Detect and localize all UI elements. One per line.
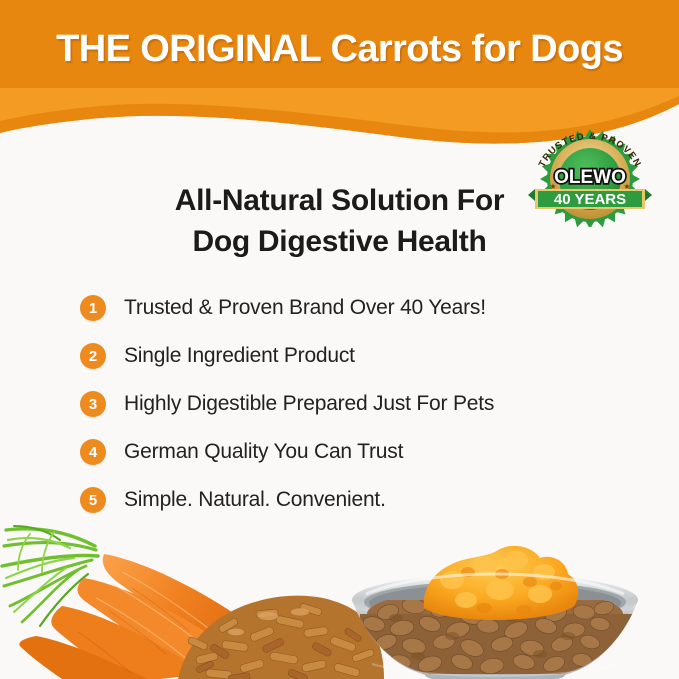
list-item: 2 Single Ingredient Product [80, 332, 640, 380]
benefit-text: Single Ingredient Product [124, 344, 355, 368]
product-photo-strip [0, 514, 679, 679]
trust-seal-badge: TRUSTED & PROVEN ★ ★ OLEWO 40 YEARS [519, 127, 661, 227]
benefit-text: German Quality You Can Trust [124, 440, 403, 464]
product-infographic: THE ORIGINAL Carrots for Dogs [0, 0, 679, 679]
product-photo-illustration [0, 514, 679, 679]
benefit-number-badge: 2 [80, 343, 106, 369]
list-item: 5 Simple. Natural. Convenient. [80, 476, 640, 524]
seal-ribbon-text: 40 YEARS [554, 191, 626, 208]
seal-brand-wordmark: OLEWO [554, 167, 626, 188]
list-item: 3 Highly Digestible Prepared Just For Pe… [80, 380, 640, 428]
page-title-strong: THE ORIGINAL [56, 28, 320, 70]
list-item: 4 German Quality You Can Trust [80, 428, 640, 476]
seal-ribbon: 40 YEARS [528, 189, 652, 209]
benefit-number-badge: 3 [80, 391, 106, 417]
benefit-text: Trusted & Proven Brand Over 40 Years! [124, 296, 486, 320]
benefits-list: 1 Trusted & Proven Brand Over 40 Years! … [80, 284, 640, 524]
page-title-rest: Carrots for Dogs [321, 28, 623, 70]
benefit-number-badge: 5 [80, 487, 106, 513]
seal-svg: TRUSTED & PROVEN ★ ★ OLEWO 40 YEARS [519, 127, 661, 227]
list-item: 1 Trusted & Proven Brand Over 40 Years! [80, 284, 640, 332]
benefit-number-badge: 1 [80, 295, 106, 321]
benefit-text: Highly Digestible Prepared Just For Pets [124, 392, 494, 416]
benefit-text: Simple. Natural. Convenient. [124, 488, 386, 512]
subtitle-line-2: Dog Digestive Health [0, 221, 679, 262]
benefit-number-badge: 4 [80, 439, 106, 465]
page-title: THE ORIGINAL Carrots for Dogs [0, 28, 679, 71]
